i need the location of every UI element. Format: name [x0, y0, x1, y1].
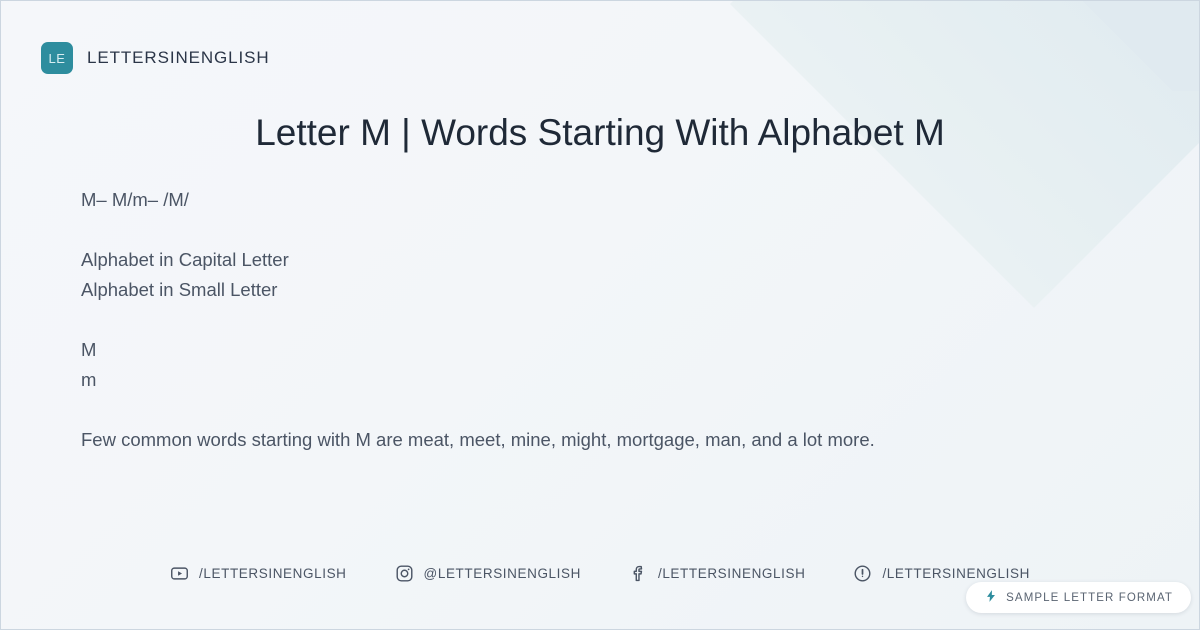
body-content: M– M/m– /M/ Alphabet in Capital Letter A…: [81, 185, 1041, 455]
youtube-icon: [170, 564, 189, 583]
social-handle-youtube: /LETTERSINENGLISH: [199, 566, 346, 581]
brand-name-label: LETTERSINENGLISH: [87, 48, 270, 68]
social-handle-facebook: /LETTERSINENGLISH: [658, 566, 805, 581]
description-paragraph: Few common words starting with M are mea…: [81, 425, 1031, 455]
sample-letter-format-badge[interactable]: SAMPLE LETTER FORMAT: [966, 582, 1191, 613]
small-letter-label: Alphabet in Small Letter: [81, 275, 1041, 305]
social-item-pinterest[interactable]: /LETTERSINENGLISH: [853, 564, 1029, 583]
brand-logo-badge: LE: [41, 42, 73, 74]
pronunciation-line: M– M/m– /M/: [81, 185, 1041, 215]
social-item-youtube[interactable]: /LETTERSINENGLISH: [170, 564, 346, 583]
capital-letter-label: Alphabet in Capital Letter: [81, 245, 1041, 275]
social-item-instagram[interactable]: @LETTERSINENGLISH: [395, 564, 581, 583]
spacer: [81, 305, 1041, 335]
social-handle-pinterest: /LETTERSINENGLISH: [882, 566, 1029, 581]
lightning-bolt-icon: [984, 589, 998, 606]
social-item-facebook[interactable]: /LETTERSINENGLISH: [629, 564, 805, 583]
spacer: [81, 395, 1041, 425]
spacer: [81, 215, 1041, 245]
social-handle-instagram: @LETTERSINENGLISH: [424, 566, 581, 581]
poster-canvas: LE LETTERSINENGLISH Letter M | Words Sta…: [0, 0, 1200, 630]
sample-badge-label: SAMPLE LETTER FORMAT: [1006, 592, 1173, 604]
page-title: Letter M | Words Starting With Alphabet …: [1, 109, 1199, 157]
facebook-icon: [629, 564, 648, 583]
brand-header: LE LETTERSINENGLISH: [41, 42, 270, 74]
decorative-corner-shape: [1079, 1, 1199, 91]
pinterest-icon: [853, 564, 872, 583]
instagram-icon: [395, 564, 414, 583]
small-letter-value: m: [81, 365, 1041, 395]
capital-letter-value: M: [81, 335, 1041, 365]
social-footer: /LETTERSINENGLISH @LETTERSINENGLISH /LET…: [1, 564, 1199, 583]
